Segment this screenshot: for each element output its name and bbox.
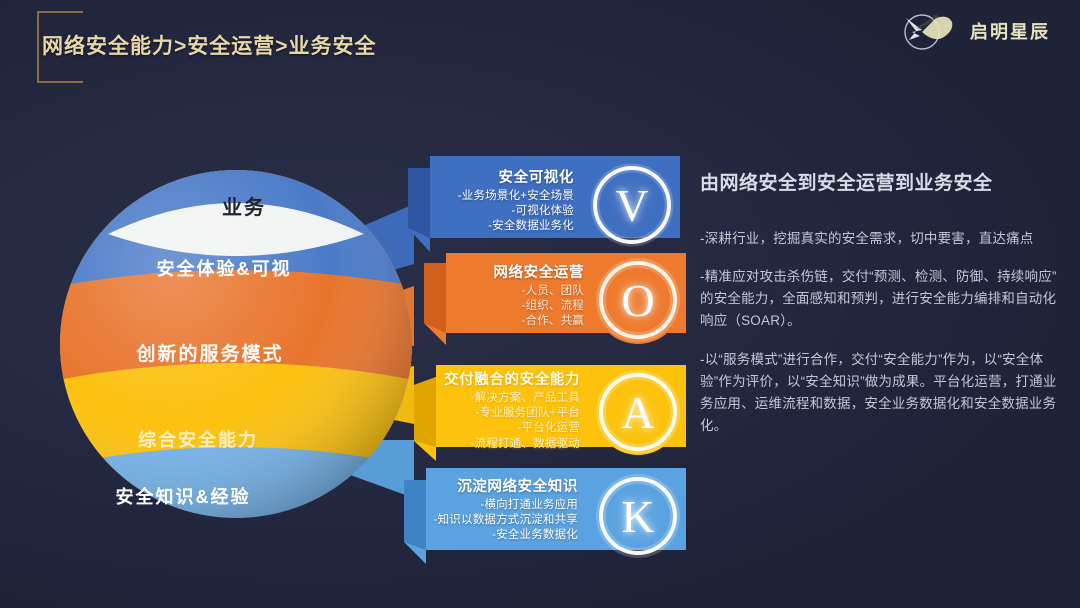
callout-letter: O — [592, 254, 684, 346]
slide-canvas: 网络安全能力>安全运营>业务安全 venustech 启明星辰 — [0, 0, 1080, 608]
callout-k-badge: K — [592, 470, 684, 562]
layered-sphere-diagram: 业务 安全体验&可视 创新的服务模式 综合安全能力 安全知识&经验 — [58, 168, 418, 528]
sphere-band-label: 安全体验&可视 — [157, 258, 292, 279]
page-title: 网络安全能力>安全运营>业务安全 — [42, 30, 377, 60]
slide-header: 网络安全能力>安全运营>业务安全 venustech 启明星辰 — [0, 0, 1080, 110]
sphere-band-label: 业务 — [222, 195, 266, 219]
callout-letter: V — [586, 159, 678, 251]
company-logo: venustech 启明星辰 — [892, 8, 1062, 54]
callout-o-badge: O — [592, 254, 684, 346]
callout-a[interactable]: 交付融合的安全能力 -解决方案、产品工具 -专业服务团队+平台 -平台化运营 -… — [414, 361, 686, 461]
callout-v[interactable]: 安全可视化 -业务场景化+安全场景 -可视化体验 -安全数据业务化 V — [408, 156, 680, 252]
sphere-band-label: 安全知识&经验 — [116, 486, 251, 507]
callout-a-badge: A — [592, 366, 684, 458]
callout-v-badge: V — [586, 159, 678, 251]
panel-paragraph: -精准应对攻击杀伤链，交付“预测、检测、防御、持续响应”的安全能力，全面感知和预… — [700, 266, 1060, 332]
logo-wordmark: 启明星辰 — [970, 18, 1050, 44]
star-planet-logo-icon: venustech — [892, 10, 964, 52]
sphere-band-label: 综合安全能力 — [138, 429, 258, 450]
callout-letter: K — [592, 470, 684, 562]
sphere-band-label: 创新的服务模式 — [135, 342, 283, 365]
description-panel: 由网络安全到安全运营到业务安全 -深耕行业，挖掘真实的安全需求，切中要害，直达痛… — [700, 170, 1060, 453]
panel-heading: 由网络安全到安全运营到业务安全 — [700, 170, 1060, 198]
callout-o[interactable]: 网络安全运营 -人员、团队 -组织、流程 -合作、共赢 O — [424, 253, 686, 345]
callout-letter: A — [592, 366, 684, 458]
sphere-graphic: 业务 安全体验&可视 创新的服务模式 综合安全能力 安全知识&经验 — [58, 168, 414, 520]
callout-k[interactable]: 沉淀网络安全知识 -横向打通业务应用 -知识以数据方式沉淀和共享 -安全业务数据… — [404, 466, 686, 566]
panel-paragraph: -深耕行业，挖掘真实的安全需求，切中要害，直达痛点 — [700, 228, 1060, 250]
panel-paragraph: -以“服务模式”进行合作，交付“安全能力”作为，以“安全体验”作为评价，以“安全… — [700, 349, 1060, 436]
